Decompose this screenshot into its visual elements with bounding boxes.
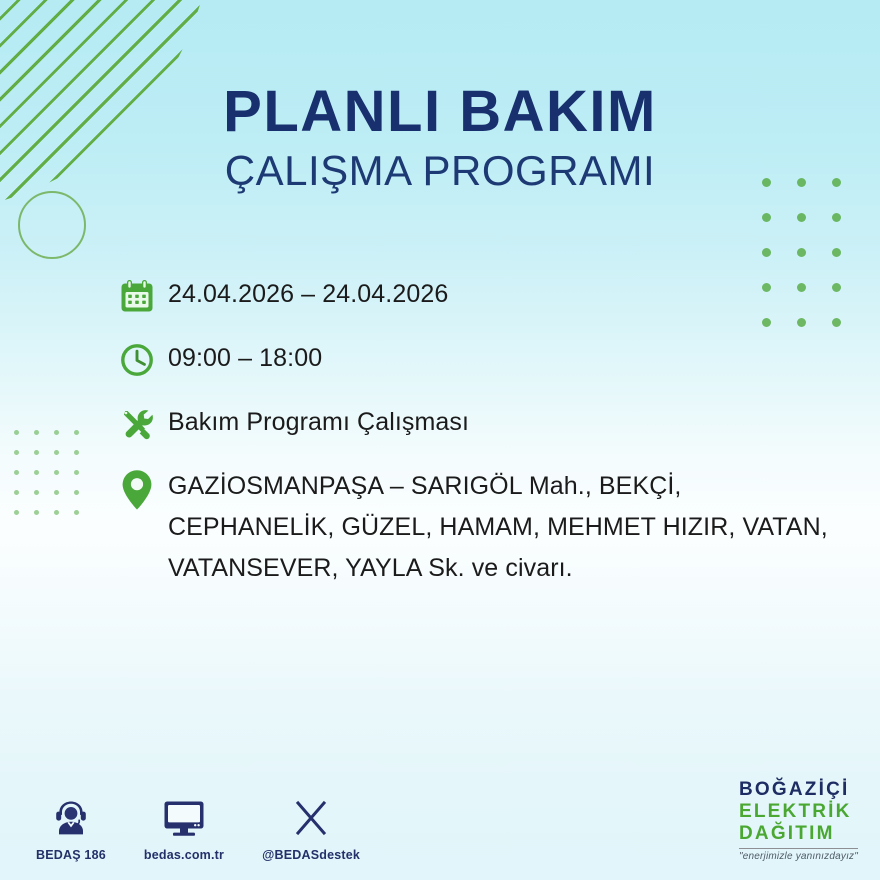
contact-channels: BEDAŞ 186 bedas.com.tr (36, 794, 360, 862)
logo-line-elektrik: ELEKTRİK (739, 802, 858, 821)
detail-row-time: 09:00 – 18:00 (118, 336, 838, 384)
detail-row-worktype: Bakım Programı Çalışması (118, 400, 838, 448)
circle-outline-decoration (18, 191, 86, 259)
detail-date-text: 24.04.2026 – 24.04.2026 (168, 272, 448, 315)
logo-tagline: "enerjimizle yanınızdayız" (739, 852, 858, 862)
tools-icon (118, 400, 168, 448)
contact-website-label: bedas.com.tr (144, 848, 224, 862)
detail-worktype-text: Bakım Programı Çalışması (168, 400, 469, 443)
logo-divider (739, 848, 858, 849)
clock-icon (118, 336, 168, 384)
detail-row-date: 24.04.2026 – 24.04.2026 (118, 272, 838, 320)
detail-row-location: GAZİOSMANPAŞA – SARIGÖL Mah., BEKÇİ, CEP… (118, 464, 838, 589)
contact-phone-label: BEDAŞ 186 (36, 848, 106, 862)
title-line-primary: PLANLI BAKIM (0, 82, 880, 142)
footer: BEDAŞ 186 bedas.com.tr (0, 760, 880, 880)
contact-phone[interactable]: BEDAŞ 186 (36, 794, 106, 862)
location-pin-icon (118, 464, 168, 512)
contact-social[interactable]: @BEDASdestek (262, 794, 360, 862)
detail-time-text: 09:00 – 18:00 (168, 336, 322, 379)
dot-grid-left-decoration (14, 430, 94, 530)
company-logo: BOĞAZİÇİ ELEKTRİK DAĞITIM "enerjimizle y… (739, 780, 858, 862)
logo-line-dagitim: DAĞITIM (739, 824, 858, 843)
maintenance-details: 24.04.2026 – 24.04.2026 09:00 – 18:00 (118, 272, 838, 605)
x-social-icon (289, 794, 333, 840)
poster-canvas: PLANLI BAKIM ÇALIŞMA PROGRAMI (0, 0, 880, 880)
title-line-secondary: ÇALIŞMA PROGRAMI (0, 146, 880, 196)
contact-website[interactable]: bedas.com.tr (144, 794, 224, 862)
calendar-icon (118, 272, 168, 320)
support-agent-icon (49, 794, 93, 840)
detail-location-text: GAZİOSMANPAŞA – SARIGÖL Mah., BEKÇİ, CEP… (168, 464, 838, 589)
logo-line-bogazici: BOĞAZİÇİ (739, 780, 858, 799)
page-title: PLANLI BAKIM ÇALIŞMA PROGRAMI (0, 82, 880, 196)
contact-social-label: @BEDASdestek (262, 848, 360, 862)
monitor-icon (160, 794, 208, 840)
